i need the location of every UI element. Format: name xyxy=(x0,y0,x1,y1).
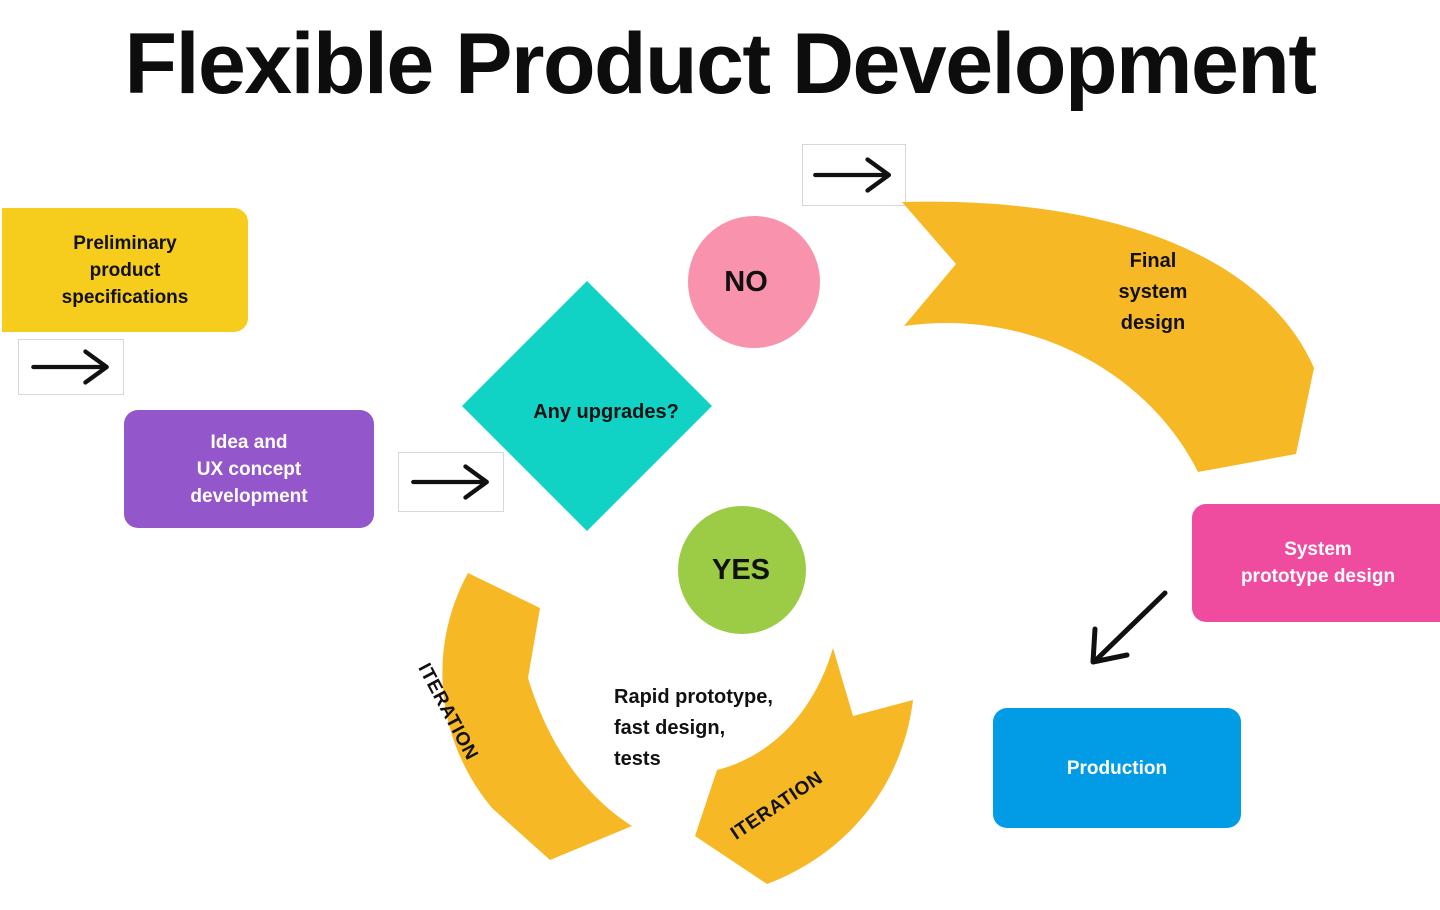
node-system-prototype-design[interactable]: System prototype design xyxy=(1192,504,1440,622)
node-label: NO xyxy=(724,266,768,299)
node-label: System prototype design xyxy=(1241,536,1395,590)
node-label: Idea and UX concept development xyxy=(190,429,307,510)
node-decision-yes[interactable]: YES xyxy=(678,506,806,634)
connector-arrow-box-1[interactable] xyxy=(18,339,124,395)
node-label: YES xyxy=(712,554,770,587)
node-rapid-prototype-note: Rapid prototype, fast design, tests xyxy=(614,682,824,775)
node-label: Any upgrades? xyxy=(481,401,731,424)
node-preliminary-product-specifications[interactable]: Preliminary product specifications xyxy=(2,208,248,332)
node-label: Final system design xyxy=(1093,246,1213,339)
node-production[interactable]: Production xyxy=(993,708,1241,828)
node-label: Preliminary product specifications xyxy=(62,230,189,311)
ribbon-shape xyxy=(442,573,632,860)
arrow-right-icon xyxy=(19,340,123,394)
arrow-down-left-icon xyxy=(1093,593,1165,662)
node-decision-no[interactable]: NO xyxy=(688,216,820,348)
connector-diagonal-arrow xyxy=(1075,585,1185,675)
node-idea-and-ux-concept-development[interactable]: Idea and UX concept development xyxy=(124,410,374,528)
page-title: Flexible Product Development xyxy=(0,14,1440,114)
node-any-upgrades[interactable]: Any upgrades? xyxy=(462,281,712,531)
diagram-canvas: Flexible Product Development Preliminary… xyxy=(0,0,1440,910)
node-label: Production xyxy=(1067,755,1167,782)
